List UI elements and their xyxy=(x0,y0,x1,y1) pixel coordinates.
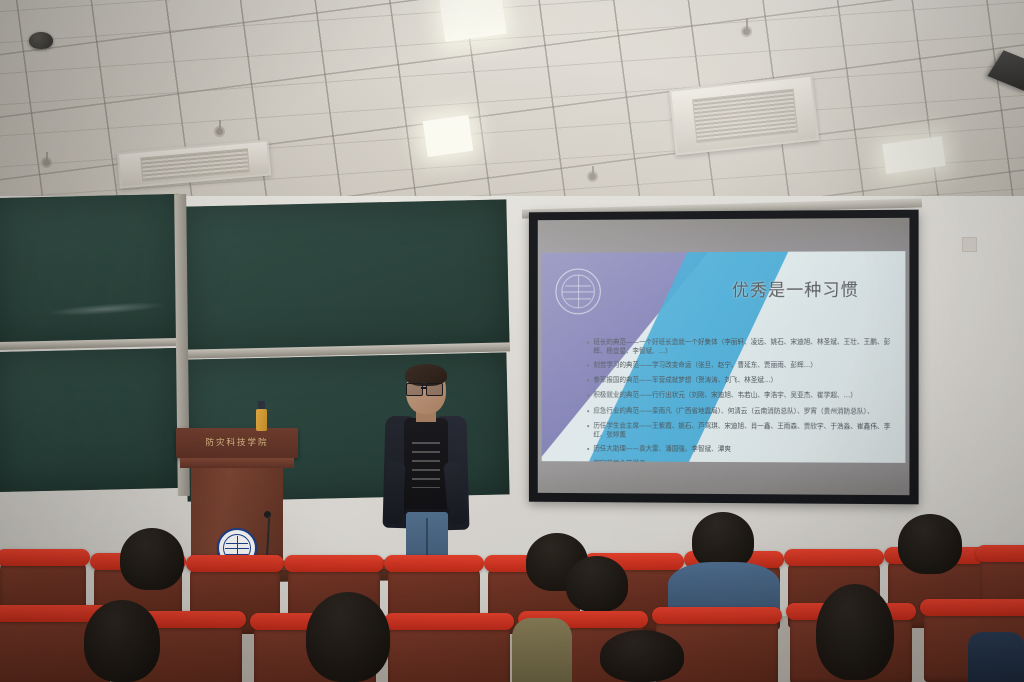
bullet-text: 历任学生会主席——王紫霞、姚石、芦驾琪、宋迪旭、肖一鑫、王雨森、贾欣宇、于浩淼、… xyxy=(593,421,891,441)
auditorium-seat[interactable] xyxy=(388,620,510,682)
podium: 防灾科技学院 xyxy=(176,428,298,576)
bullet-marker: • xyxy=(587,338,589,357)
bullet-marker: • xyxy=(587,459,589,463)
podium-sign-text: 防灾科技学院 xyxy=(176,436,298,448)
student-head xyxy=(898,514,962,574)
water-bottle-icon[interactable] xyxy=(256,409,267,431)
student-head xyxy=(566,556,628,612)
list-item: • 历任学生会主席——王紫霞、姚石、芦驾琪、宋迪旭、肖一鑫、王雨森、贾欣宇、于浩… xyxy=(587,421,891,441)
student-head xyxy=(120,528,184,590)
student-head xyxy=(84,600,160,682)
podium-top: 防灾科技学院 xyxy=(176,428,298,458)
bullet-text: 国家奖学金获得者…… xyxy=(593,459,658,463)
speaker-person xyxy=(378,366,474,581)
bullet-text: 历任大助理——袁大雷、潘国强、李智斌、潭爽 xyxy=(593,444,731,456)
bullet-marker: • xyxy=(587,361,589,372)
list-item: • 国家奖学金获得者…… xyxy=(587,459,891,463)
bullet-marker: • xyxy=(587,376,589,387)
slide-title: 优秀是一种习惯 xyxy=(690,275,901,301)
list-item: • 积极就业的典范——行行出状元（刘刚、宋迪旭、韦若山、李浩宇、吴亚杰、崔学超、… xyxy=(587,391,891,403)
glasses-icon xyxy=(406,383,446,394)
university-globe-logo-icon xyxy=(555,269,600,315)
list-item: • 班长的典范——一个好班长造就一个好集体（李丽轩、凌远、姚石、宋迪旭、林圣斌、… xyxy=(587,338,891,357)
list-item: • 应急行业的典范——栾雨凡（广西省地震局）、何清云（云南消防总队）、罗宵（贵州… xyxy=(587,406,891,418)
wall-outlet-icon xyxy=(962,237,977,252)
list-item: • 历任大助理——袁大雷、潘国强、李智斌、潭爽 xyxy=(587,444,891,456)
student-head xyxy=(306,592,390,682)
bullet-marker: • xyxy=(587,421,589,440)
list-item: • 参军报国的典范——军营成就梦想（贺涛涛、刘飞、林圣斌…） xyxy=(587,376,891,387)
lecture-hall-photo: 优秀是一种习惯 • 班长的典范——一个好班长造就一个好集体（李丽轩、凌远、姚石、… xyxy=(0,0,1024,682)
t-shirt-print xyxy=(412,442,440,488)
bullet-text: 积极就业的典范——行行出状元（刘刚、宋迪旭、韦若山、李浩宇、吴亚杰、崔学超、…） xyxy=(593,391,857,402)
slide-bullet-list: • 班长的典范——一个好班长造就一个好集体（李丽轩、凌远、姚石、宋迪旭、林圣斌、… xyxy=(587,338,891,463)
ceiling xyxy=(0,0,1024,215)
list-item: • 刻苦学习的典范——学习改变命运（张旦、赵宁、曹延东、贾丽雨、彭辉…） xyxy=(587,361,891,372)
bullet-text: 班长的典范——一个好班长造就一个好集体（李丽轩、凌远、姚石、宋迪旭、林圣斌、王壮… xyxy=(593,338,891,357)
presentation-slide: 优秀是一种习惯 • 班长的典范——一个好班长造就一个好集体（李丽轩、凌远、姚石、… xyxy=(542,251,906,463)
student-torso xyxy=(968,632,1024,682)
bullet-marker: • xyxy=(587,444,589,455)
student-head xyxy=(600,630,684,682)
bullet-text: 应急行业的典范——栾雨凡（广西省地震局）、何清云（云南消防总队）、罗宵（贵州消防… xyxy=(593,406,873,418)
bullet-text: 参军报国的典范——军营成就梦想（贺涛涛、刘飞、林圣斌…） xyxy=(593,376,777,387)
bullet-text: 刻苦学习的典范——学习改变命运（张旦、赵宁、曹延东、贾丽雨、彭辉…） xyxy=(593,361,817,372)
bullet-marker: • xyxy=(587,391,589,402)
left-arm xyxy=(383,462,405,525)
student-head xyxy=(816,584,894,680)
bullet-marker: • xyxy=(587,406,589,417)
projection-screen[interactable]: 优秀是一种习惯 • 班长的典范——一个好班长造就一个好集体（李丽轩、凌远、姚石、… xyxy=(529,210,919,505)
student-torso xyxy=(512,618,572,682)
